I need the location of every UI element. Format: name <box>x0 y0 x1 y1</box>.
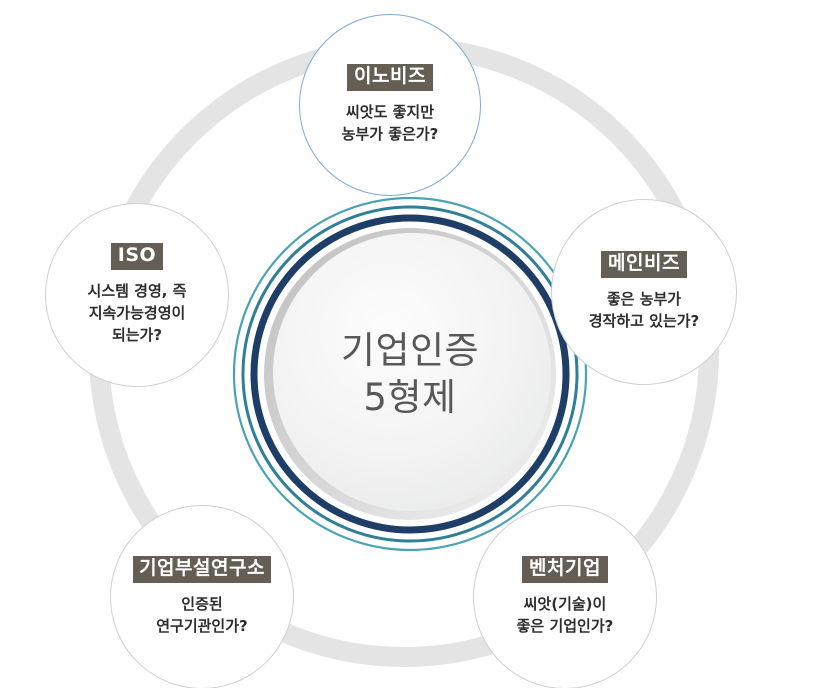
center-hub: 기업인증 5형제 <box>232 196 588 552</box>
node-iso-title: ISO <box>111 243 163 270</box>
node-innobiz-description: 씨앗도 좋지만 농부가 좋은가? <box>342 102 439 146</box>
node-venture[interactable]: 벤처기업 씨앗(기술)이 좋은 기업인가? <box>473 505 657 688</box>
node-venture-title: 벤처기업 <box>522 556 608 583</box>
node-lab-title: 기업부설연구소 <box>133 556 271 583</box>
node-mainbiz-title: 메인비즈 <box>601 251 687 278</box>
node-innobiz-title: 이노비즈 <box>347 64 433 91</box>
diagram-canvas: 기업인증 5형제 이노비즈 씨앗도 좋지만 농부가 좋은가? ISO 시스템 경… <box>0 0 824 688</box>
center-hub-label: 기업인증 5형제 <box>232 196 588 552</box>
node-iso[interactable]: ISO 시스템 경영, 즉 지속가능경영이 되는가? <box>45 203 229 387</box>
node-iso-description: 시스템 경영, 즉 지속가능경영이 되는가? <box>88 281 187 346</box>
node-innobiz[interactable]: 이노비즈 씨앗도 좋지만 농부가 좋은가? <box>299 14 481 196</box>
node-mainbiz-description: 좋은 농부가 경작하고 있는가? <box>589 289 700 333</box>
node-mainbiz[interactable]: 메인비즈 좋은 농부가 경작하고 있는가? <box>551 199 737 385</box>
node-lab[interactable]: 기업부설연구소 인증된 연구기관인가? <box>110 505 294 688</box>
node-lab-description: 인증된 연구기관인가? <box>156 594 248 638</box>
node-venture-description: 씨앗(기술)이 좋은 기업인가? <box>517 594 614 638</box>
